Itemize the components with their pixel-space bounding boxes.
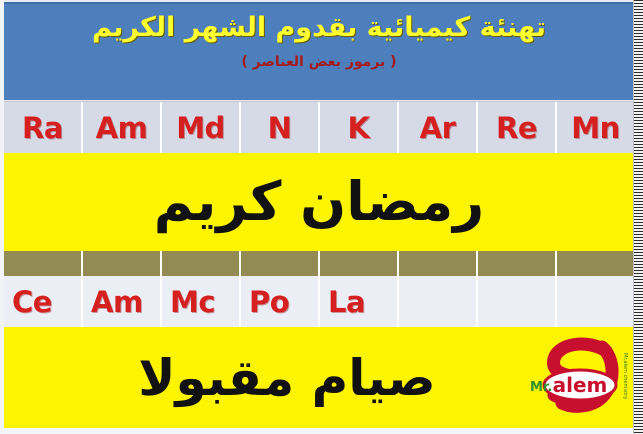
logo-vertical-credit: Mr.alem chemistry	[622, 353, 628, 399]
greeting-band-ramadan-kareem: رمضان كريم	[4, 153, 634, 251]
element-symbol-row-2: Ce Am Mc Po La	[4, 276, 634, 327]
divider-cell	[478, 251, 557, 276]
divider-cell	[83, 251, 162, 276]
element-cell: Re	[478, 102, 557, 153]
element-symbol-row-1: Ra Am Md N K Ar Re Mn	[4, 101, 634, 153]
divider-row	[4, 251, 634, 276]
element-cell	[557, 276, 634, 327]
divider-cell	[557, 251, 634, 276]
element-cell: Am	[83, 276, 162, 327]
element-cell: K	[320, 102, 399, 153]
element-cell: Am	[83, 102, 162, 153]
divider-cell	[162, 251, 241, 276]
divider-cell	[399, 251, 478, 276]
element-cell: Ar	[399, 102, 478, 153]
bottom-strip	[4, 428, 634, 434]
logo-prefix: Mr.	[530, 380, 552, 395]
element-cell: Ce	[4, 276, 83, 327]
element-cell: Po	[241, 276, 320, 327]
element-cell	[478, 276, 557, 327]
greeting-text: رمضان كريم	[154, 175, 485, 229]
element-cell: Ra	[4, 102, 83, 153]
sheet-area: تهنئة كيميائية بقدوم الشهر الكريم ( برمو…	[4, 0, 634, 434]
element-cell: Md	[162, 102, 241, 153]
divider-cell	[241, 251, 320, 276]
slide-canvas: تهنئة كيميائية بقدوم الشهر الكريم ( برمو…	[0, 0, 643, 434]
right-frame-edge	[633, 0, 643, 434]
greeting-text: صيام مقبولا	[138, 353, 436, 403]
logo-name: alem	[553, 373, 608, 397]
element-cell: Mn	[557, 102, 634, 153]
page-title: تهنئة كيميائية بقدوم الشهر الكريم	[4, 12, 634, 44]
page-subtitle: ( برموز بعض العناصر )	[4, 54, 634, 70]
mr-alem-logo: alem Mr. Mr.alem chemistry	[528, 337, 626, 423]
header-banner: تهنئة كيميائية بقدوم الشهر الكريم ( برمو…	[4, 2, 634, 100]
element-cell: N	[241, 102, 320, 153]
element-cell: Mc	[162, 276, 241, 327]
element-cell	[399, 276, 478, 327]
left-frame-edge	[0, 0, 4, 434]
divider-cell	[320, 251, 399, 276]
divider-cell	[4, 251, 83, 276]
element-cell: La	[320, 276, 399, 327]
